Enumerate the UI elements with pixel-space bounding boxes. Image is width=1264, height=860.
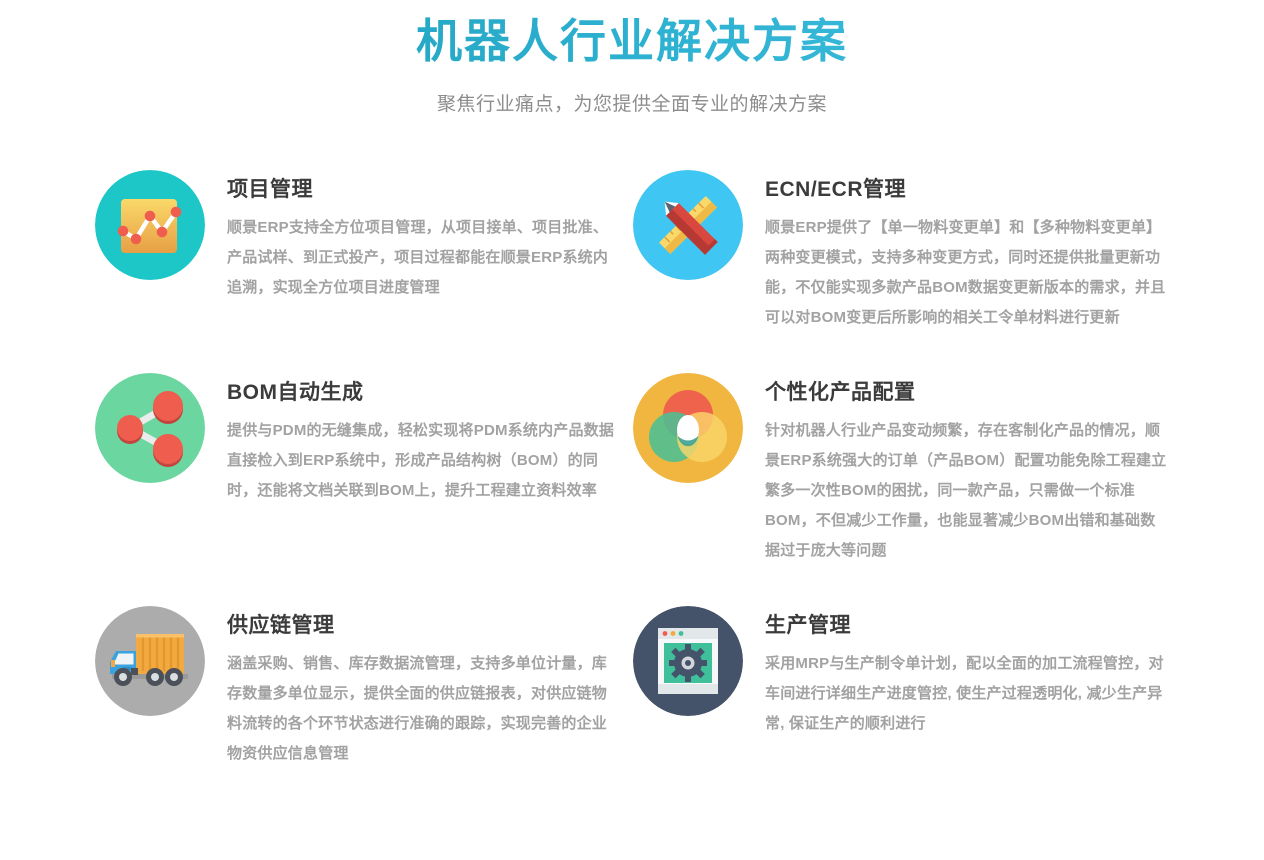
feature-description: 涵盖采购、销售、库存数据流管理，支持多单位计量，库存数量多单位显示，提供全面的供… — [227, 649, 621, 769]
feature-grid: 项目管理 顺景ERP支持全方位项目管理，从项目接单、项目批准、产品试样、到正式投… — [0, 170, 1264, 809]
feature-body: ECN/ECR管理 顺景ERP提供了【单一物料变更单】和【多种物料变更单】两种变… — [765, 170, 1170, 333]
solution-page: 机器人行业解决方案 聚焦行业痛点，为您提供全面专业的解决方案 — [0, 0, 1264, 860]
feature-title: 生产管理 — [765, 612, 1170, 640]
venn-circles-icon — [633, 373, 743, 483]
page-subtitle: 聚焦行业痛点，为您提供全面专业的解决方案 — [0, 92, 1264, 118]
feature-card-production-management[interactable]: 生产管理 采用MRP与生产制令单计划，配以全面的加工流程管控，对车间进行详细生产… — [633, 606, 1170, 769]
feature-card-bom-auto-generation[interactable]: BOM自动生成 提供与PDM的无缝集成，轻松实现将PDM系统内产品数据直接检入到… — [95, 373, 632, 566]
feature-card-product-configuration[interactable]: 个性化产品配置 针对机器人行业产品变动频繁，存在客制化产品的情况，顺景ERP系统… — [633, 373, 1170, 566]
share-network-icon — [95, 373, 205, 483]
truck-icon — [95, 606, 205, 716]
feature-title: 个性化产品配置 — [765, 379, 1170, 407]
feature-description: 采用MRP与生产制令单计划，配以全面的加工流程管控，对车间进行详细生产进度管控,… — [765, 649, 1170, 739]
feature-card-project-management[interactable]: 项目管理 顺景ERP支持全方位项目管理，从项目接单、项目批准、产品试样、到正式投… — [95, 170, 632, 333]
page-title: 机器人行业解决方案 — [0, 10, 1264, 72]
feature-description: 提供与PDM的无缝集成，轻松实现将PDM系统内产品数据直接检入到ERP系统中，形… — [227, 416, 621, 506]
feature-body: 供应链管理 涵盖采购、销售、库存数据流管理，支持多单位计量，库存数量多单位显示，… — [227, 606, 621, 769]
feature-description: 针对机器人行业产品变动频繁，存在客制化产品的情况，顺景ERP系统强大的订单（产品… — [765, 416, 1170, 566]
feature-body: 个性化产品配置 针对机器人行业产品变动频繁，存在客制化产品的情况，顺景ERP系统… — [765, 373, 1170, 566]
feature-title: 项目管理 — [227, 176, 621, 204]
pencil-ruler-icon — [633, 170, 743, 280]
feature-body: BOM自动生成 提供与PDM的无缝集成，轻松实现将PDM系统内产品数据直接检入到… — [227, 373, 621, 506]
line-chart-icon — [95, 170, 205, 280]
feature-description: 顺景ERP支持全方位项目管理，从项目接单、项目批准、产品试样、到正式投产，项目过… — [227, 213, 621, 303]
feature-title: ECN/ECR管理 — [765, 176, 1170, 204]
feature-body: 项目管理 顺景ERP支持全方位项目管理，从项目接单、项目批准、产品试样、到正式投… — [227, 170, 621, 303]
feature-description: 顺景ERP提供了【单一物料变更单】和【多种物料变更单】两种变更模式，支持多种变更… — [765, 213, 1170, 333]
feature-title: BOM自动生成 — [227, 379, 621, 407]
feature-title: 供应链管理 — [227, 612, 621, 640]
feature-card-ecn-ecr-management[interactable]: ECN/ECR管理 顺景ERP提供了【单一物料变更单】和【多种物料变更单】两种变… — [633, 170, 1170, 333]
feature-body: 生产管理 采用MRP与生产制令单计划，配以全面的加工流程管控，对车间进行详细生产… — [765, 606, 1170, 739]
browser-gear-icon — [633, 606, 743, 716]
page-header: 机器人行业解决方案 聚焦行业痛点，为您提供全面专业的解决方案 — [0, 0, 1264, 118]
feature-card-supply-chain-management[interactable]: 供应链管理 涵盖采购、销售、库存数据流管理，支持多单位计量，库存数量多单位显示，… — [95, 606, 632, 769]
